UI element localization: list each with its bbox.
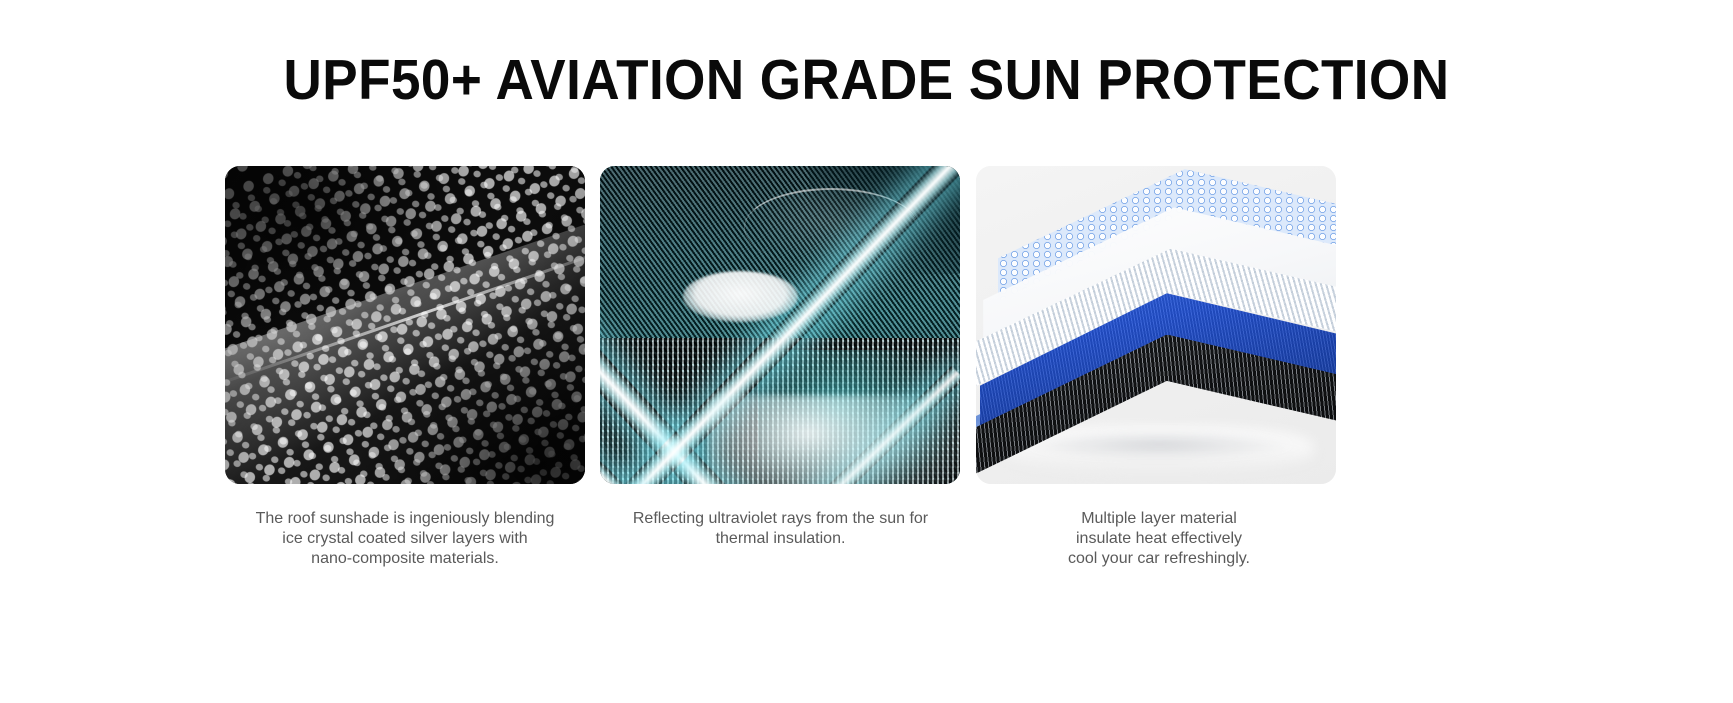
feature-caption-multi-layer-material: Multiple layer material insulate heat ef… [964, 509, 1354, 569]
product-feature-section: UPF50+ AVIATION GRADE SUN PROTECTION [0, 0, 1733, 703]
layer-stack-shadow [1026, 430, 1292, 459]
feature-image-uv-reflection [600, 166, 960, 484]
feature-image-multi-layer-material [976, 166, 1336, 484]
uv-bottom-glow [708, 395, 960, 484]
feature-image-row [225, 166, 1337, 484]
feature-caption-row: The roof sunshade is ingeniously blendin… [225, 509, 1337, 619]
mesh-vignette [225, 166, 585, 484]
uv-bright-ellipse [683, 271, 798, 322]
feature-image-perforated-mesh-fabric [225, 166, 585, 484]
feature-caption-perforated-mesh-fabric: The roof sunshade is ingeniously blendin… [207, 509, 603, 569]
feature-caption-uv-reflection: Reflecting ultraviolet rays from the sun… [586, 509, 975, 549]
page-title: UPF50+ AVIATION GRADE SUN PROTECTION [61, 48, 1673, 112]
